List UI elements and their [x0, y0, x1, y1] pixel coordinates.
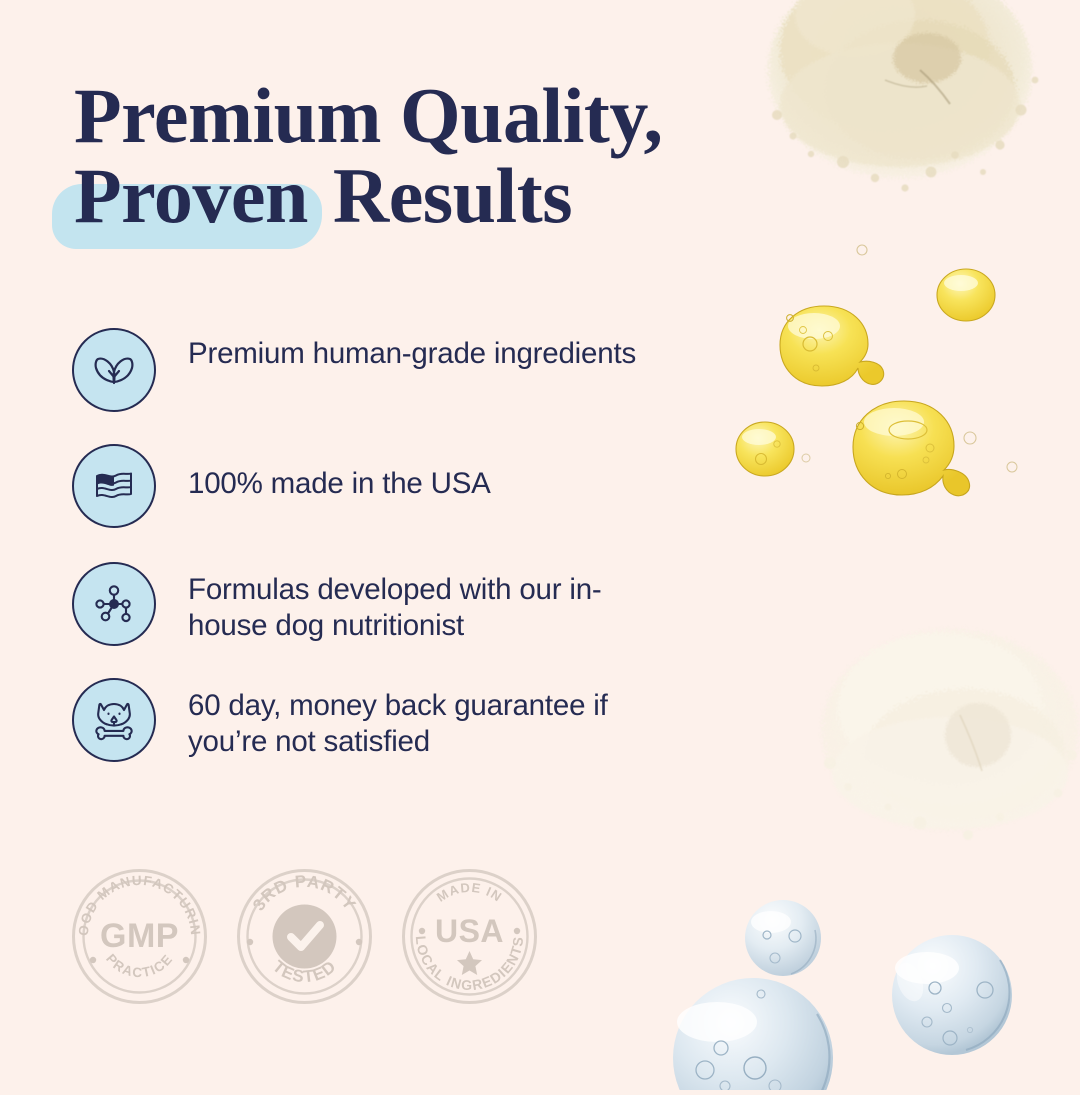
- usa-flag-icon: [72, 444, 156, 528]
- leaf-sprout-icon: [72, 328, 156, 412]
- usa-dot-right: [514, 928, 520, 934]
- feature-label-usa: 100% made in the USA: [188, 444, 491, 502]
- star-icon: [457, 951, 482, 975]
- feature-label-ingredients: Premium human-grade ingredients: [188, 328, 636, 372]
- water-bubbles: [655, 890, 1080, 1090]
- gmp-badge: GOOD MANUFACTURING PRACTICE GMP: [68, 865, 211, 1008]
- feature-row-usa: 100% made in the USA: [72, 444, 672, 528]
- oil-speck-a: [855, 243, 869, 257]
- feature-label-nutritionist: Formulas developed with our in-house dog…: [188, 562, 658, 644]
- oil-speck-d: [800, 452, 812, 464]
- headline-line-2: Proven Results: [74, 158, 734, 234]
- oil-droplet-round-top: [935, 266, 997, 324]
- gmp-dot-right: [183, 957, 189, 963]
- gmp-center-label: GMP: [100, 917, 179, 955]
- usa-dot-left: [419, 928, 425, 934]
- molecule-icon: [72, 562, 156, 646]
- tested-dot-left: [247, 939, 253, 945]
- feature-row-nutritionist: Formulas developed with our in-house dog…: [72, 562, 672, 646]
- gmp-dot-left: [90, 957, 96, 963]
- svg-text:PRACTICE: PRACTICE: [103, 951, 176, 980]
- oil-speck-c: [1005, 460, 1019, 474]
- page-title: Premium Quality, Proven Results: [74, 78, 734, 235]
- oil-droplet-large-lower: [846, 396, 982, 500]
- white-powder-pile: [800, 595, 1080, 865]
- oil-droplet-large-upper: [772, 300, 892, 392]
- feature-row-ingredients: Premium human-grade ingredients: [72, 328, 672, 412]
- third-party-tested-badge: 3RD PARTY TESTED: [233, 865, 376, 1008]
- headline-highlight: Proven: [68, 158, 314, 234]
- oil-speck-b: [962, 430, 978, 446]
- feature-list: Premium human-grade ingredients 100% mad…: [72, 328, 672, 794]
- headline-highlight-word: Proven: [74, 152, 308, 239]
- tested-dot-right: [356, 939, 362, 945]
- headline-line-1: Premium Quality,: [74, 78, 734, 154]
- dog-bone-icon: [72, 678, 156, 762]
- made-in-usa-badge: MADE IN LOCAL INGREDIENTS USA: [398, 865, 541, 1008]
- gmp-arc-bottom: PRACTICE: [103, 951, 176, 980]
- beige-powder-pile: [735, 0, 1065, 230]
- headline-rest: Results: [314, 152, 572, 239]
- feature-row-guarantee: 60 day, money back guarantee if you’re n…: [72, 678, 672, 762]
- usa-center-label: USA: [435, 913, 504, 949]
- certification-badges: GOOD MANUFACTURING PRACTICE GMP 3RD PART…: [68, 865, 541, 1008]
- feature-label-guarantee: 60 day, money back guarantee if you’re n…: [188, 678, 658, 760]
- oil-droplet-small-left: [733, 418, 797, 480]
